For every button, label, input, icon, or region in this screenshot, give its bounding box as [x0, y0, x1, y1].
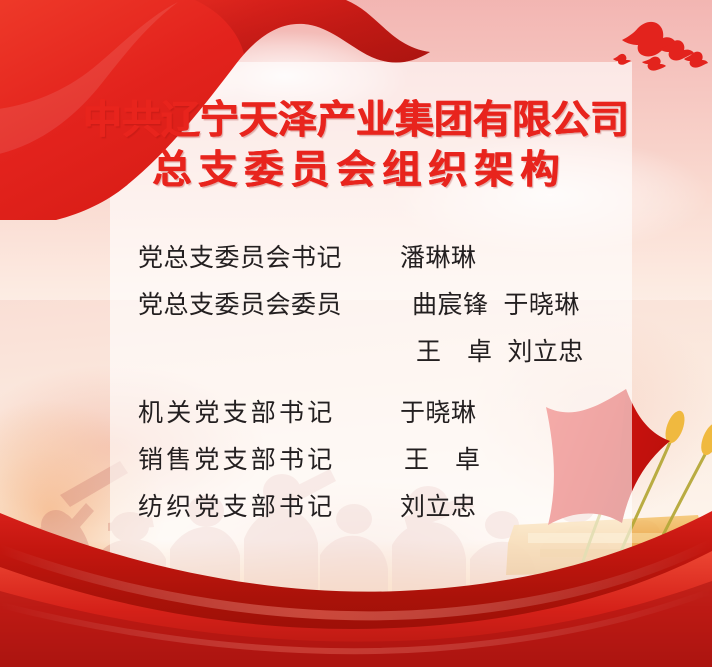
- roster-names: 王 卓: [388, 440, 481, 476]
- roster-role: 销售党支部书记: [138, 440, 388, 476]
- title-line-1: 中共辽宁天泽产业集团有限公司: [0, 96, 712, 146]
- title-line-2: 总支委员会组织架构: [0, 146, 712, 196]
- roster-row: 党总支委员会书记 潘琳琳: [138, 238, 608, 285]
- roster-row: 机关党支部书记 于晓琳: [138, 393, 608, 440]
- roster-names: 王 卓 刘立忠: [388, 332, 584, 368]
- poster-canvas: 中共辽宁天泽产业集团有限公司 总支委员会组织架构 党总支委员会书记 潘琳琳 党总…: [0, 0, 712, 667]
- roster-role: 机关党支部书记: [138, 393, 388, 429]
- roster-names: 刘立忠: [388, 487, 477, 523]
- roster-row: 销售党支部书记 王 卓: [138, 440, 608, 487]
- roster-names: 潘琳琳: [388, 238, 477, 274]
- roster-role: 纺织党支部书记: [138, 487, 388, 523]
- roster-row: 党总支委员会委员 曲宸锋 于晓琳: [138, 285, 608, 332]
- roster-row: 纺织党支部书记 刘立忠: [138, 487, 608, 534]
- roster-row: 王 卓 刘立忠: [138, 332, 608, 379]
- roster-names: 曲宸锋 于晓琳: [388, 285, 580, 321]
- roster-list: 党总支委员会书记 潘琳琳 党总支委员会委员 曲宸锋 于晓琳 王 卓 刘立忠 机关…: [138, 238, 608, 534]
- roster-role: 党总支委员会书记: [138, 238, 388, 274]
- poster-text: 中共辽宁天泽产业集团有限公司 总支委员会组织架构 党总支委员会书记 潘琳琳 党总…: [0, 0, 712, 667]
- roster-names: 于晓琳: [388, 393, 477, 429]
- roster-role: 党总支委员会委员: [138, 285, 388, 321]
- poster-title: 中共辽宁天泽产业集团有限公司 总支委员会组织架构: [0, 96, 712, 196]
